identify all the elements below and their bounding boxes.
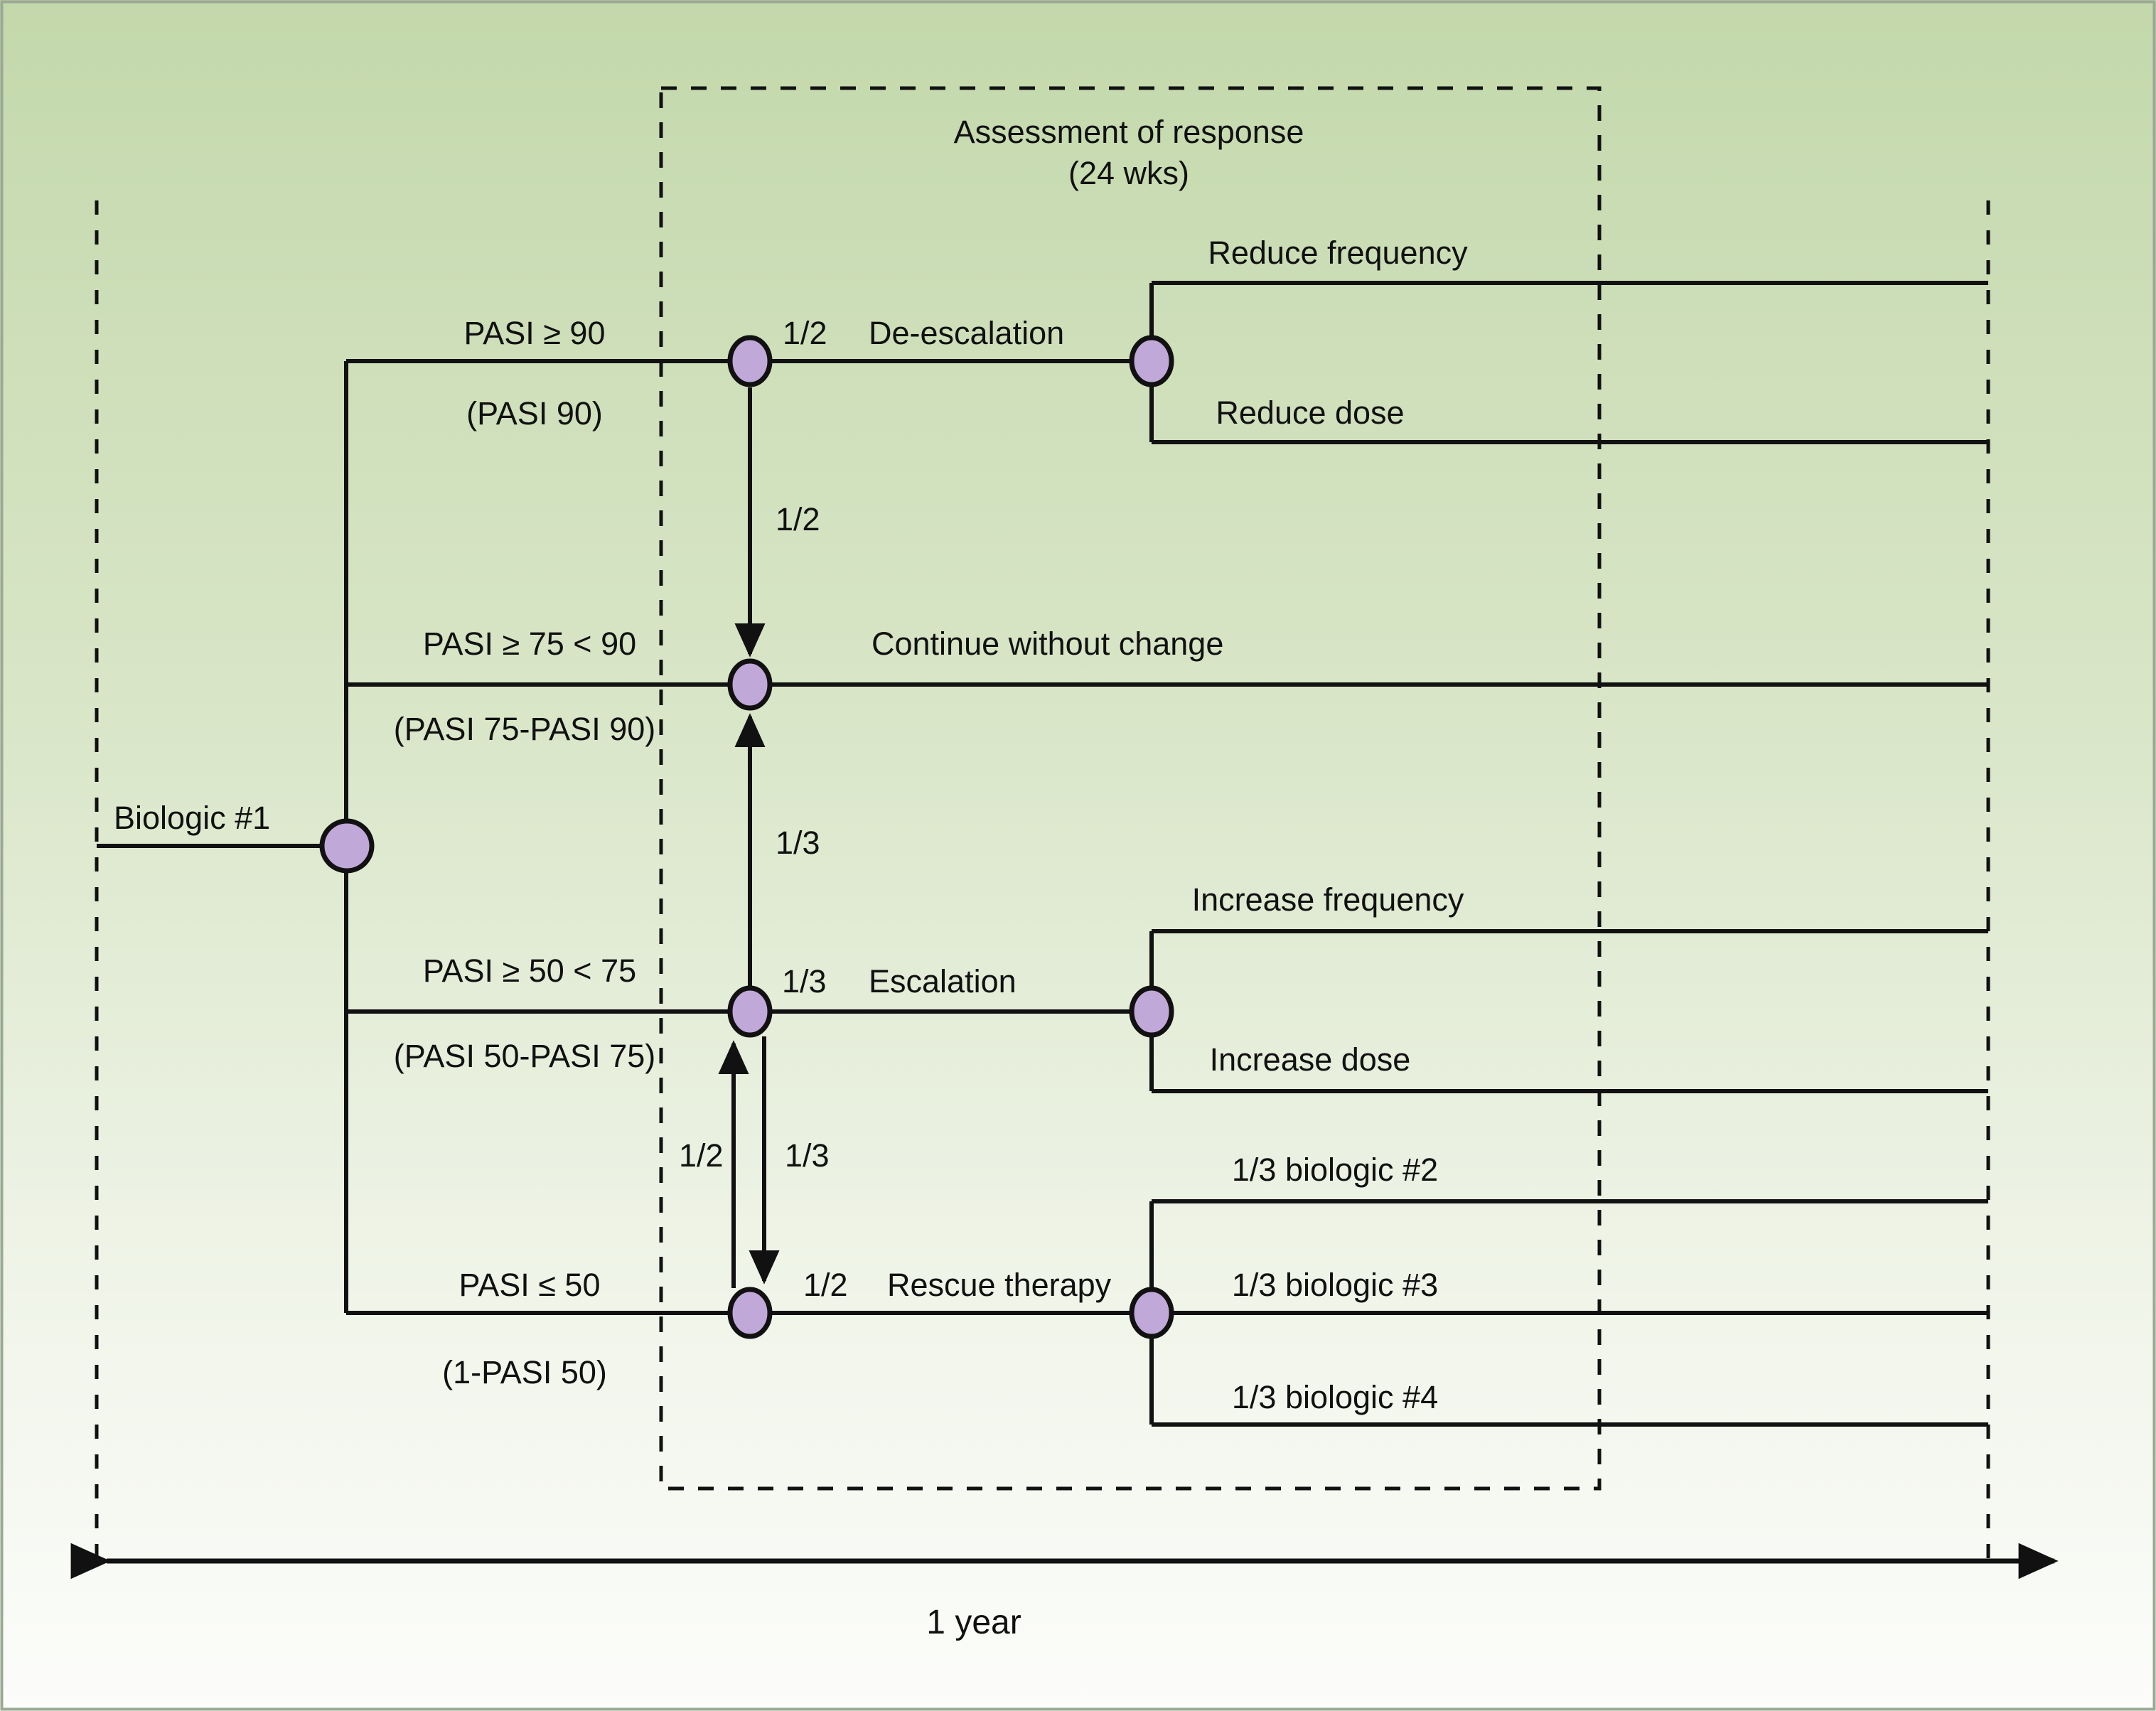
branch-probability-pasi-le50: (1-PASI 50) — [442, 1354, 607, 1391]
outcome-label-biologic4: 1/3 biologic #4 — [1232, 1379, 1438, 1416]
outcome-label-increase-dose: Increase dose — [1210, 1041, 1411, 1078]
node-prob-pasi90: 1/2 — [783, 315, 827, 352]
diagram-svg — [0, 0, 2156, 1711]
node-prob-pasi-le50: 1/2 — [803, 1267, 848, 1304]
node-outcome-deescalation — [1132, 338, 1171, 385]
branch-probability-pasi50-75: (PASI 50-PASI 75) — [394, 1038, 655, 1075]
branch-probability-pasi90: (PASI 90) — [466, 395, 603, 432]
timeline-label: 1 year — [926, 1603, 1021, 1642]
outcome-label-reduce-dose: Reduce dose — [1216, 395, 1404, 431]
transition-label-continue-to-escal: 1/3 — [776, 825, 820, 862]
node-root-biologic1 — [322, 821, 372, 871]
node-outcome-rescue — [1132, 1289, 1171, 1336]
branch-criterion-pasi50-75: PASI ≥ 50 < 75 — [423, 953, 636, 989]
node-decision-pasi50_75 — [730, 988, 770, 1035]
branch-criterion-pasi-le50: PASI ≤ 50 — [459, 1267, 601, 1304]
outcome-label-increase-frequency: Increase frequency — [1192, 881, 1464, 918]
action-label-escalation: Escalation — [869, 963, 1017, 1000]
figure-canvas: Assessment of response (24 wks) Biologic… — [0, 0, 2156, 1711]
node-decision-pasi90 — [730, 338, 770, 385]
branch-criterion-pasi75-90: PASI ≥ 75 < 90 — [423, 626, 636, 663]
assessment-title-line2: (24 wks) — [1068, 155, 1189, 192]
assessment-title-line1: Assessment of response — [954, 114, 1304, 151]
action-label-rescue-therapy: Rescue therapy — [887, 1267, 1111, 1304]
node-outcome-escalation — [1132, 988, 1171, 1035]
action-label-continue: Continue without change — [871, 626, 1223, 663]
outcome-label-biologic3: 1/3 biologic #3 — [1232, 1267, 1438, 1304]
transition-label-deesc-to-continue: 1/2 — [776, 501, 820, 538]
transition-label-rescue-up: 1/2 — [679, 1137, 724, 1174]
node-decision-pasi_le50 — [730, 1289, 770, 1336]
node-prob-pasi50-75: 1/3 — [782, 963, 827, 1000]
node-decision-pasi75_90 — [730, 661, 770, 708]
action-label-deescalation: De-escalation — [869, 315, 1064, 352]
outcome-label-biologic2: 1/3 biologic #2 — [1232, 1152, 1438, 1189]
branch-criterion-pasi90: PASI ≥ 90 — [464, 315, 606, 352]
transition-label-escal-down: 1/3 — [785, 1137, 830, 1174]
branch-probability-pasi75-90: (PASI 75-PASI 90) — [394, 711, 655, 748]
outcome-label-reduce-frequency: Reduce frequency — [1208, 235, 1467, 272]
root-label-biologic1: Biologic #1 — [114, 800, 270, 837]
